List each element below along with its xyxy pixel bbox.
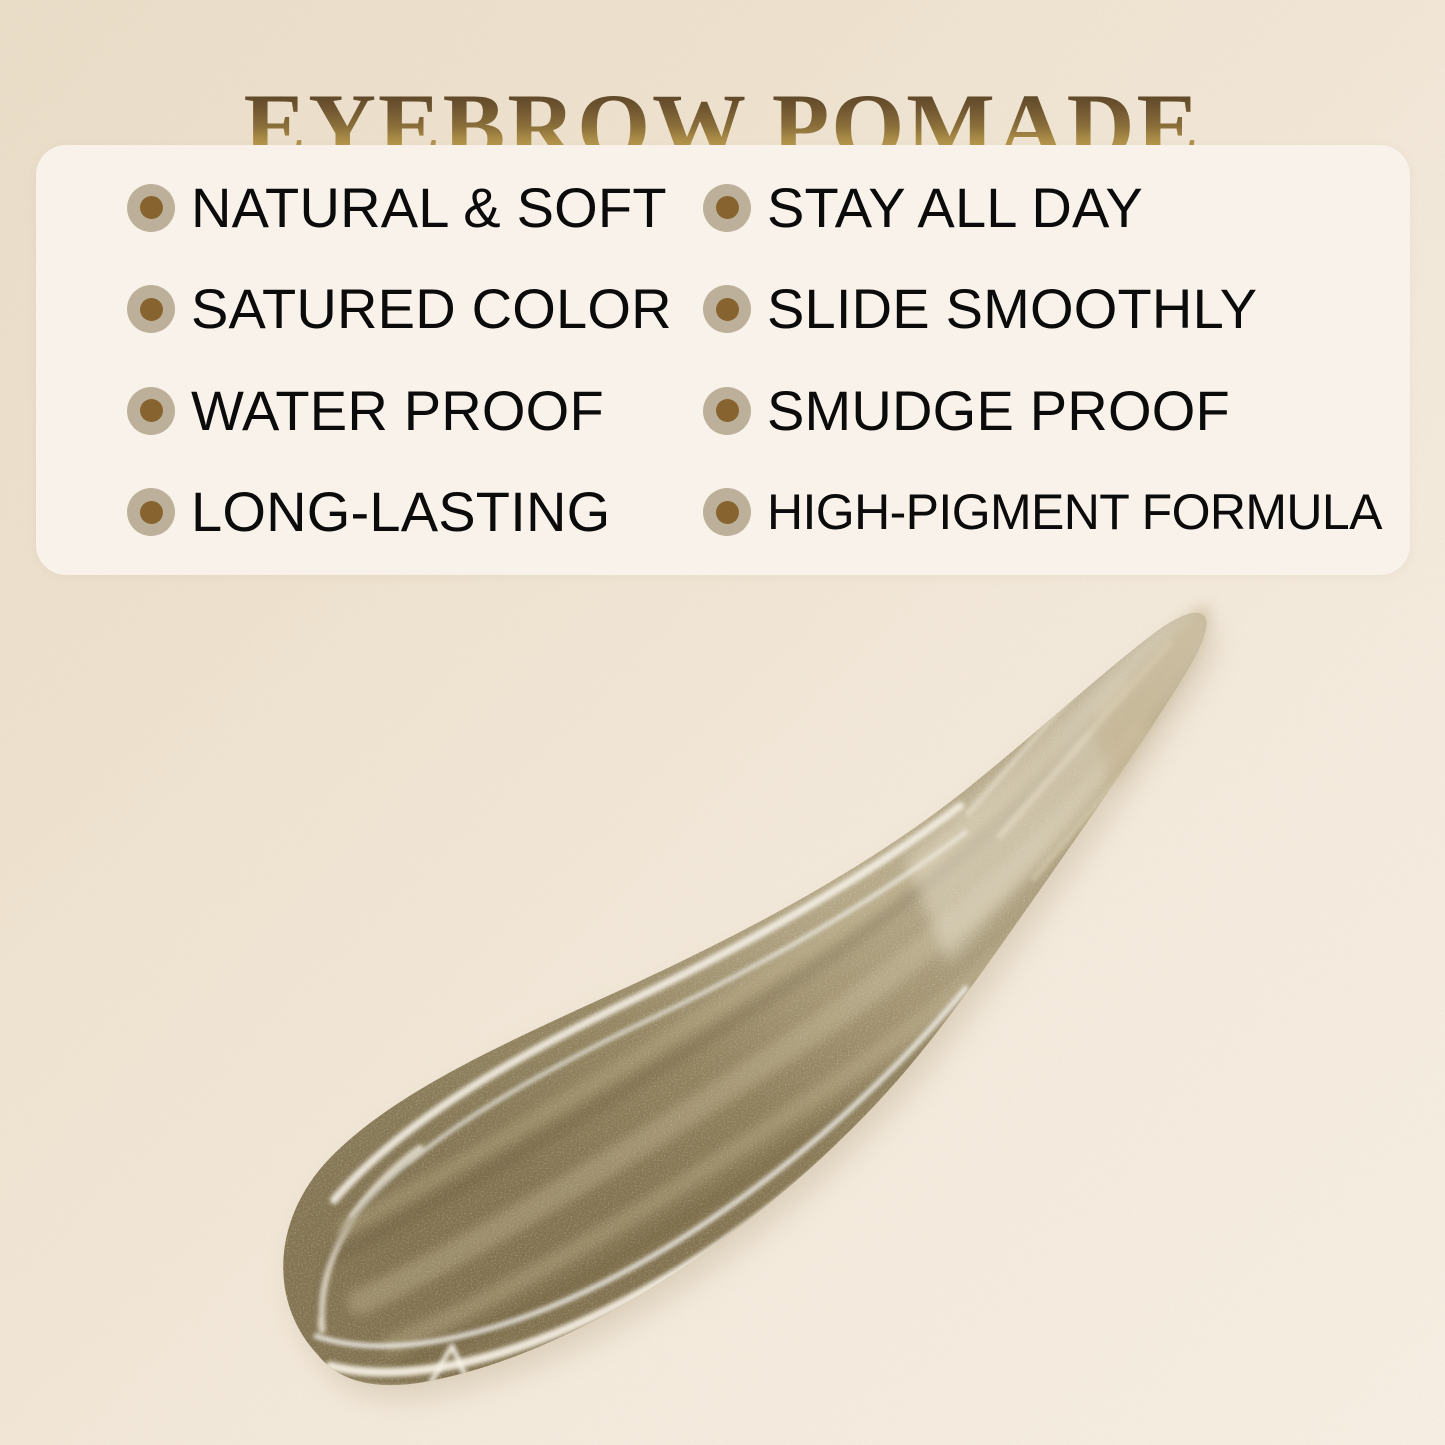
feature-item-natural-soft: NATURAL & SOFT	[36, 157, 612, 259]
product-swatch-smear	[0, 560, 1445, 1445]
feature-item-smudge-proof: SMUDGE PROOF	[612, 360, 1410, 462]
feature-grid: NATURAL & SOFT STAY ALL DAY SATURED COLO…	[36, 145, 1410, 575]
feature-item-water-proof: WATER PROOF	[36, 360, 612, 462]
feature-item-slide-smoothly: SLIDE SMOOTHLY	[612, 259, 1410, 361]
feature-label: SATURED COLOR	[191, 281, 672, 337]
feature-label: HIGH-PIGMENT FORMULA	[767, 487, 1382, 537]
bullet-dot-icon	[703, 488, 751, 536]
feature-label: SMUDGE PROOF	[767, 383, 1230, 439]
feature-label: SLIDE SMOOTHLY	[767, 281, 1257, 337]
bullet-dot-icon	[703, 184, 751, 232]
bullet-dot-icon	[127, 488, 175, 536]
feature-item-long-lasting: LONG-LASTING	[36, 462, 612, 564]
bullet-dot-icon	[127, 184, 175, 232]
feature-item-satured-color: SATURED COLOR	[36, 259, 612, 361]
bullet-dot-icon	[703, 387, 751, 435]
feature-label: LONG-LASTING	[191, 484, 610, 540]
feature-label: NATURAL & SOFT	[191, 180, 667, 236]
bullet-dot-icon	[703, 285, 751, 333]
feature-label: STAY ALL DAY	[767, 180, 1143, 236]
bullet-dot-icon	[127, 387, 175, 435]
feature-item-stay-all-day: STAY ALL DAY	[612, 157, 1410, 259]
feature-label: WATER PROOF	[191, 383, 604, 439]
product-poster: EYEBROW POMADE NATURAL & SOFT STAY ALL D…	[0, 0, 1445, 1445]
feature-item-high-pigment-formula: HIGH-PIGMENT FORMULA	[612, 462, 1410, 564]
feature-card: NATURAL & SOFT STAY ALL DAY SATURED COLO…	[36, 145, 1410, 575]
bullet-dot-icon	[127, 285, 175, 333]
